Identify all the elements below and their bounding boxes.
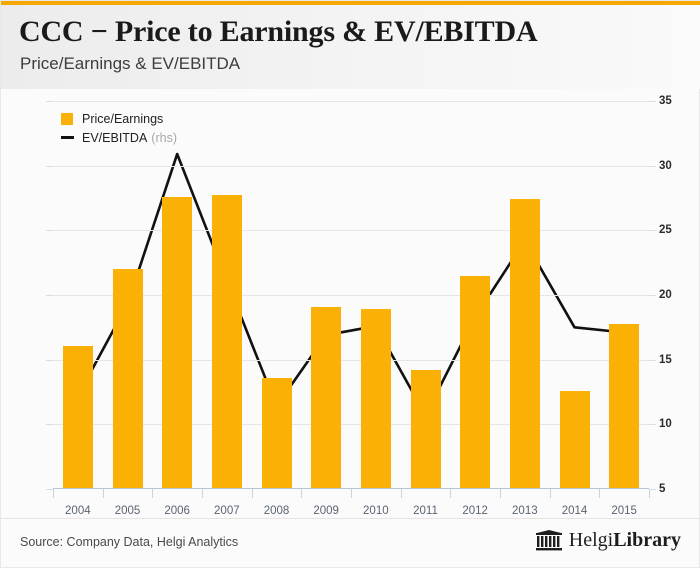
x-axis-tick-label: 2004 bbox=[65, 505, 91, 517]
y-axis-right-tick-label: 20 bbox=[659, 289, 699, 301]
y-axis-left-tick-mark bbox=[46, 101, 53, 102]
x-axis-tick-label: 2006 bbox=[164, 505, 190, 517]
page-subtitle: Price/Earnings & EV/EBITDA bbox=[20, 54, 240, 74]
legend-item-ev-ebitda: EV/EBITDA (rhs) bbox=[61, 128, 177, 147]
bar-2013 bbox=[510, 199, 540, 488]
chart-header: CCC − Price to Earnings & EV/EBITDA Pric… bbox=[1, 5, 700, 89]
y-axis-right-tick-mark bbox=[649, 166, 656, 167]
x-axis-tick-label: 2008 bbox=[264, 505, 290, 517]
legend-item-price-earnings: Price/Earnings bbox=[61, 109, 177, 128]
x-axis-tick-mark bbox=[450, 489, 451, 498]
bar-2011 bbox=[411, 370, 441, 488]
x-axis-tick-mark bbox=[599, 489, 600, 498]
legend-swatch-icon bbox=[61, 113, 73, 125]
library-icon bbox=[536, 530, 562, 551]
bar-2008 bbox=[262, 378, 292, 488]
x-axis-tick-label: 2014 bbox=[562, 505, 588, 517]
y-axis-left-tick-mark bbox=[46, 360, 53, 361]
legend-label-price-earnings: Price/Earnings bbox=[82, 112, 163, 126]
x-axis-tick-mark bbox=[351, 489, 352, 498]
y-axis-right-tick-mark bbox=[649, 230, 656, 231]
x-axis-tick-label: 2015 bbox=[611, 505, 637, 517]
y-axis-right-tick-label: 25 bbox=[659, 224, 699, 236]
brand-logo: HelgiLibrary bbox=[536, 529, 681, 552]
legend-label-rhs: (rhs) bbox=[151, 131, 177, 145]
brand-text-bold: Library bbox=[613, 529, 681, 551]
y-axis-right-tick-label: 5 bbox=[659, 483, 699, 495]
y-axis-left-tick-mark bbox=[46, 166, 53, 167]
x-axis-tick-label: 2009 bbox=[313, 505, 339, 517]
x-axis-tick-label: 2013 bbox=[512, 505, 538, 517]
bar-2009 bbox=[311, 307, 341, 488]
y-axis-right-tick-mark bbox=[649, 424, 656, 425]
bar-2004 bbox=[63, 346, 93, 488]
x-axis-tick-mark bbox=[252, 489, 253, 498]
x-axis-tick-mark bbox=[53, 489, 54, 498]
footer-divider bbox=[1, 518, 700, 519]
x-axis-tick-label: 2005 bbox=[115, 505, 141, 517]
chart-legend: Price/Earnings EV/EBITDA (rhs) bbox=[61, 109, 177, 147]
y-axis-right-tick-mark bbox=[649, 101, 656, 102]
brand-text-light: Helgi bbox=[569, 529, 613, 551]
bar-2012 bbox=[460, 276, 490, 488]
bar-2007 bbox=[212, 195, 242, 488]
source-note: Source: Company Data, Helgi Analytics bbox=[20, 535, 238, 549]
bar-2005 bbox=[113, 269, 143, 488]
y-axis-right-tick-label: 30 bbox=[659, 160, 699, 172]
chart-page: CCC − Price to Earnings & EV/EBITDA Pric… bbox=[0, 0, 700, 568]
y-axis-right-tick-mark bbox=[649, 295, 656, 296]
x-axis-tick-mark bbox=[301, 489, 302, 498]
library-building-icon bbox=[536, 530, 562, 551]
x-axis-tick-mark bbox=[401, 489, 402, 498]
bar-2006 bbox=[162, 197, 192, 488]
legend-line-icon bbox=[61, 136, 74, 139]
x-axis-tick-mark bbox=[550, 489, 551, 498]
y-axis-right-tick-label: 10 bbox=[659, 418, 699, 430]
legend-label-ev-ebitda: EV/EBITDA bbox=[82, 131, 147, 145]
y-axis-left-tick-mark bbox=[46, 230, 53, 231]
x-axis-tick-label: 2007 bbox=[214, 505, 240, 517]
x-axis-tick-mark bbox=[103, 489, 104, 498]
gridline bbox=[53, 230, 649, 231]
y-axis-left-tick-mark bbox=[46, 424, 53, 425]
x-axis-tick-mark bbox=[500, 489, 501, 498]
gridline bbox=[53, 166, 649, 167]
ev-ebitda-line bbox=[78, 154, 624, 415]
bar-2014 bbox=[560, 391, 590, 488]
x-axis-tick-mark bbox=[202, 489, 203, 498]
y-axis-right-tick-label: 15 bbox=[659, 354, 699, 366]
gridline bbox=[53, 101, 649, 102]
plot-area: 0816243240485101520253035200420052006200… bbox=[53, 101, 649, 489]
bar-2010 bbox=[361, 309, 391, 488]
y-axis-right-tick-mark bbox=[649, 489, 656, 490]
brand-text: HelgiLibrary bbox=[569, 529, 681, 552]
y-axis-right-tick-mark bbox=[649, 360, 656, 361]
y-axis-right-tick-label: 35 bbox=[659, 95, 699, 107]
x-axis-tick-label: 2011 bbox=[413, 505, 438, 517]
x-axis-tick-mark bbox=[152, 489, 153, 498]
x-axis-tick-mark bbox=[649, 489, 650, 498]
y-axis-left-tick-mark bbox=[46, 489, 53, 490]
x-axis-tick-label: 2010 bbox=[363, 505, 389, 517]
bar-2015 bbox=[609, 324, 639, 488]
y-axis-left-tick-mark bbox=[46, 295, 53, 296]
x-axis-tick-label: 2012 bbox=[462, 505, 488, 517]
page-title: CCC − Price to Earnings & EV/EBITDA bbox=[19, 15, 537, 49]
